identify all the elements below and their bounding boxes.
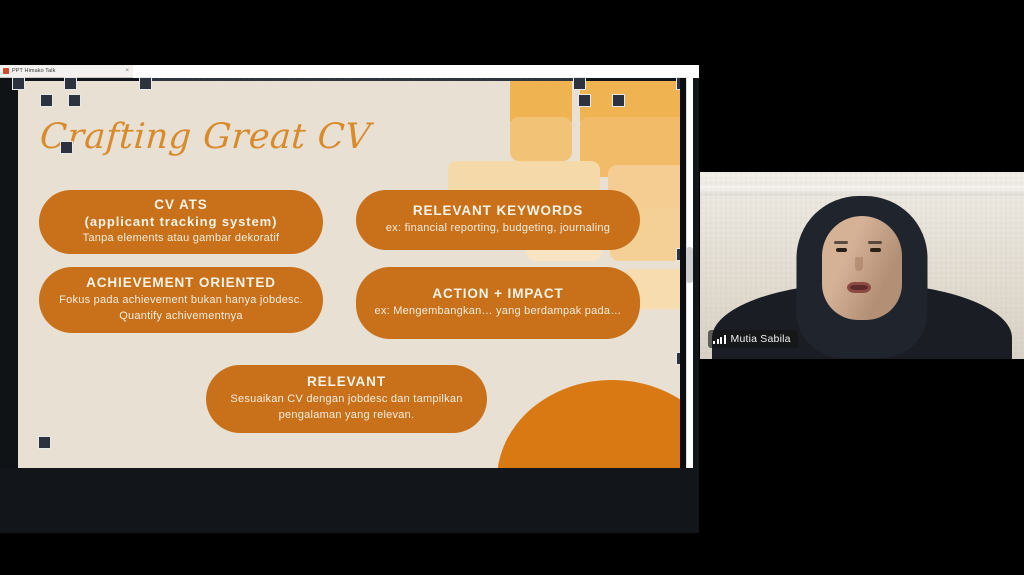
participant-eyebrow-right <box>868 241 882 244</box>
card-subtitle: Tanpa elements atau gambar dekoratif <box>83 231 280 247</box>
participant-eye-right <box>870 248 881 252</box>
card-title: RELEVANT <box>307 374 386 391</box>
close-icon[interactable]: × <box>125 68 133 74</box>
card-subtitle: ex: Mengembangkan… yang berdampak pada… <box>374 304 621 320</box>
screen-share-region: PPT Himako Talk × Crafting Great CV CV A… <box>0 65 699 533</box>
participant-eye-left <box>836 248 847 252</box>
card-title: CV ATS <box>154 197 207 214</box>
card-achievement-oriented[interactable]: ACHIEVEMENT ORIENTED Fokus pada achievem… <box>39 267 323 333</box>
selection-handle-top-right-a[interactable] <box>573 77 586 90</box>
card-subtitle: Sesuaikan CV dengan jobdesc dan tampilka… <box>222 392 471 423</box>
selection-handle-upper-c[interactable] <box>578 94 591 107</box>
selection-handle-upper-b[interactable] <box>68 94 81 107</box>
decor-rect-3 <box>510 117 572 161</box>
selection-handle-upper-d[interactable] <box>612 94 625 107</box>
video-background-seam <box>700 186 1024 196</box>
card-title-line2: (applicant tracking system) <box>85 214 278 230</box>
card-action-impact[interactable]: ACTION + IMPACT ex: Mengembangkan… yang … <box>356 267 640 339</box>
selection-handle-bottom-left[interactable] <box>38 436 51 449</box>
card-relevant[interactable]: RELEVANT Sesuaikan CV dengan jobdesc dan… <box>206 365 487 433</box>
participant-name: Mutia Sabila <box>731 333 791 345</box>
tab-favicon-icon <box>3 68 9 74</box>
participant-eyebrow-left <box>834 241 848 244</box>
participant-mouth-inner <box>850 285 868 290</box>
participant-video-tile[interactable]: Mutia Sabila <box>700 172 1024 359</box>
card-subtitle: Fokus pada achievement bukan hanya jobde… <box>55 293 307 324</box>
selection-handle-top-left[interactable] <box>12 77 25 90</box>
tab-strip-filler <box>133 65 699 78</box>
card-title: ACHIEVEMENT ORIENTED <box>86 275 276 292</box>
selection-handle-top[interactable] <box>64 77 77 90</box>
participant-nose <box>855 257 863 271</box>
card-relevant-keywords[interactable]: RELEVANT KEYWORDS ex: financial reportin… <box>356 190 640 250</box>
participant-name-badge: Mutia Sabila <box>708 330 798 348</box>
card-cv-ats[interactable]: CV ATS (applicant tracking system) Tanpa… <box>39 190 323 254</box>
left-gutter <box>0 78 18 468</box>
scrollbar-thumb[interactable] <box>686 247 693 283</box>
card-title: ACTION + IMPACT <box>432 286 563 303</box>
decor-blob-bottom-right <box>497 380 681 468</box>
slide-canvas[interactable]: Crafting Great CV CV ATS (applicant trac… <box>18 81 681 468</box>
selection-handle-upper-a[interactable] <box>40 94 53 107</box>
selection-handle-mid-left[interactable] <box>60 141 73 154</box>
page-title: Crafting Great CV <box>39 117 372 157</box>
selection-handle-top-mid[interactable] <box>139 77 152 90</box>
tab-title[interactable]: PPT Himako Talk <box>12 68 122 74</box>
video-call-screen: PPT Himako Talk × Crafting Great CV CV A… <box>0 0 1024 575</box>
signal-bars-icon <box>713 335 726 344</box>
card-title: RELEVANT KEYWORDS <box>413 203 583 220</box>
card-subtitle: ex: financial reporting, budgeting, jour… <box>386 221 610 237</box>
